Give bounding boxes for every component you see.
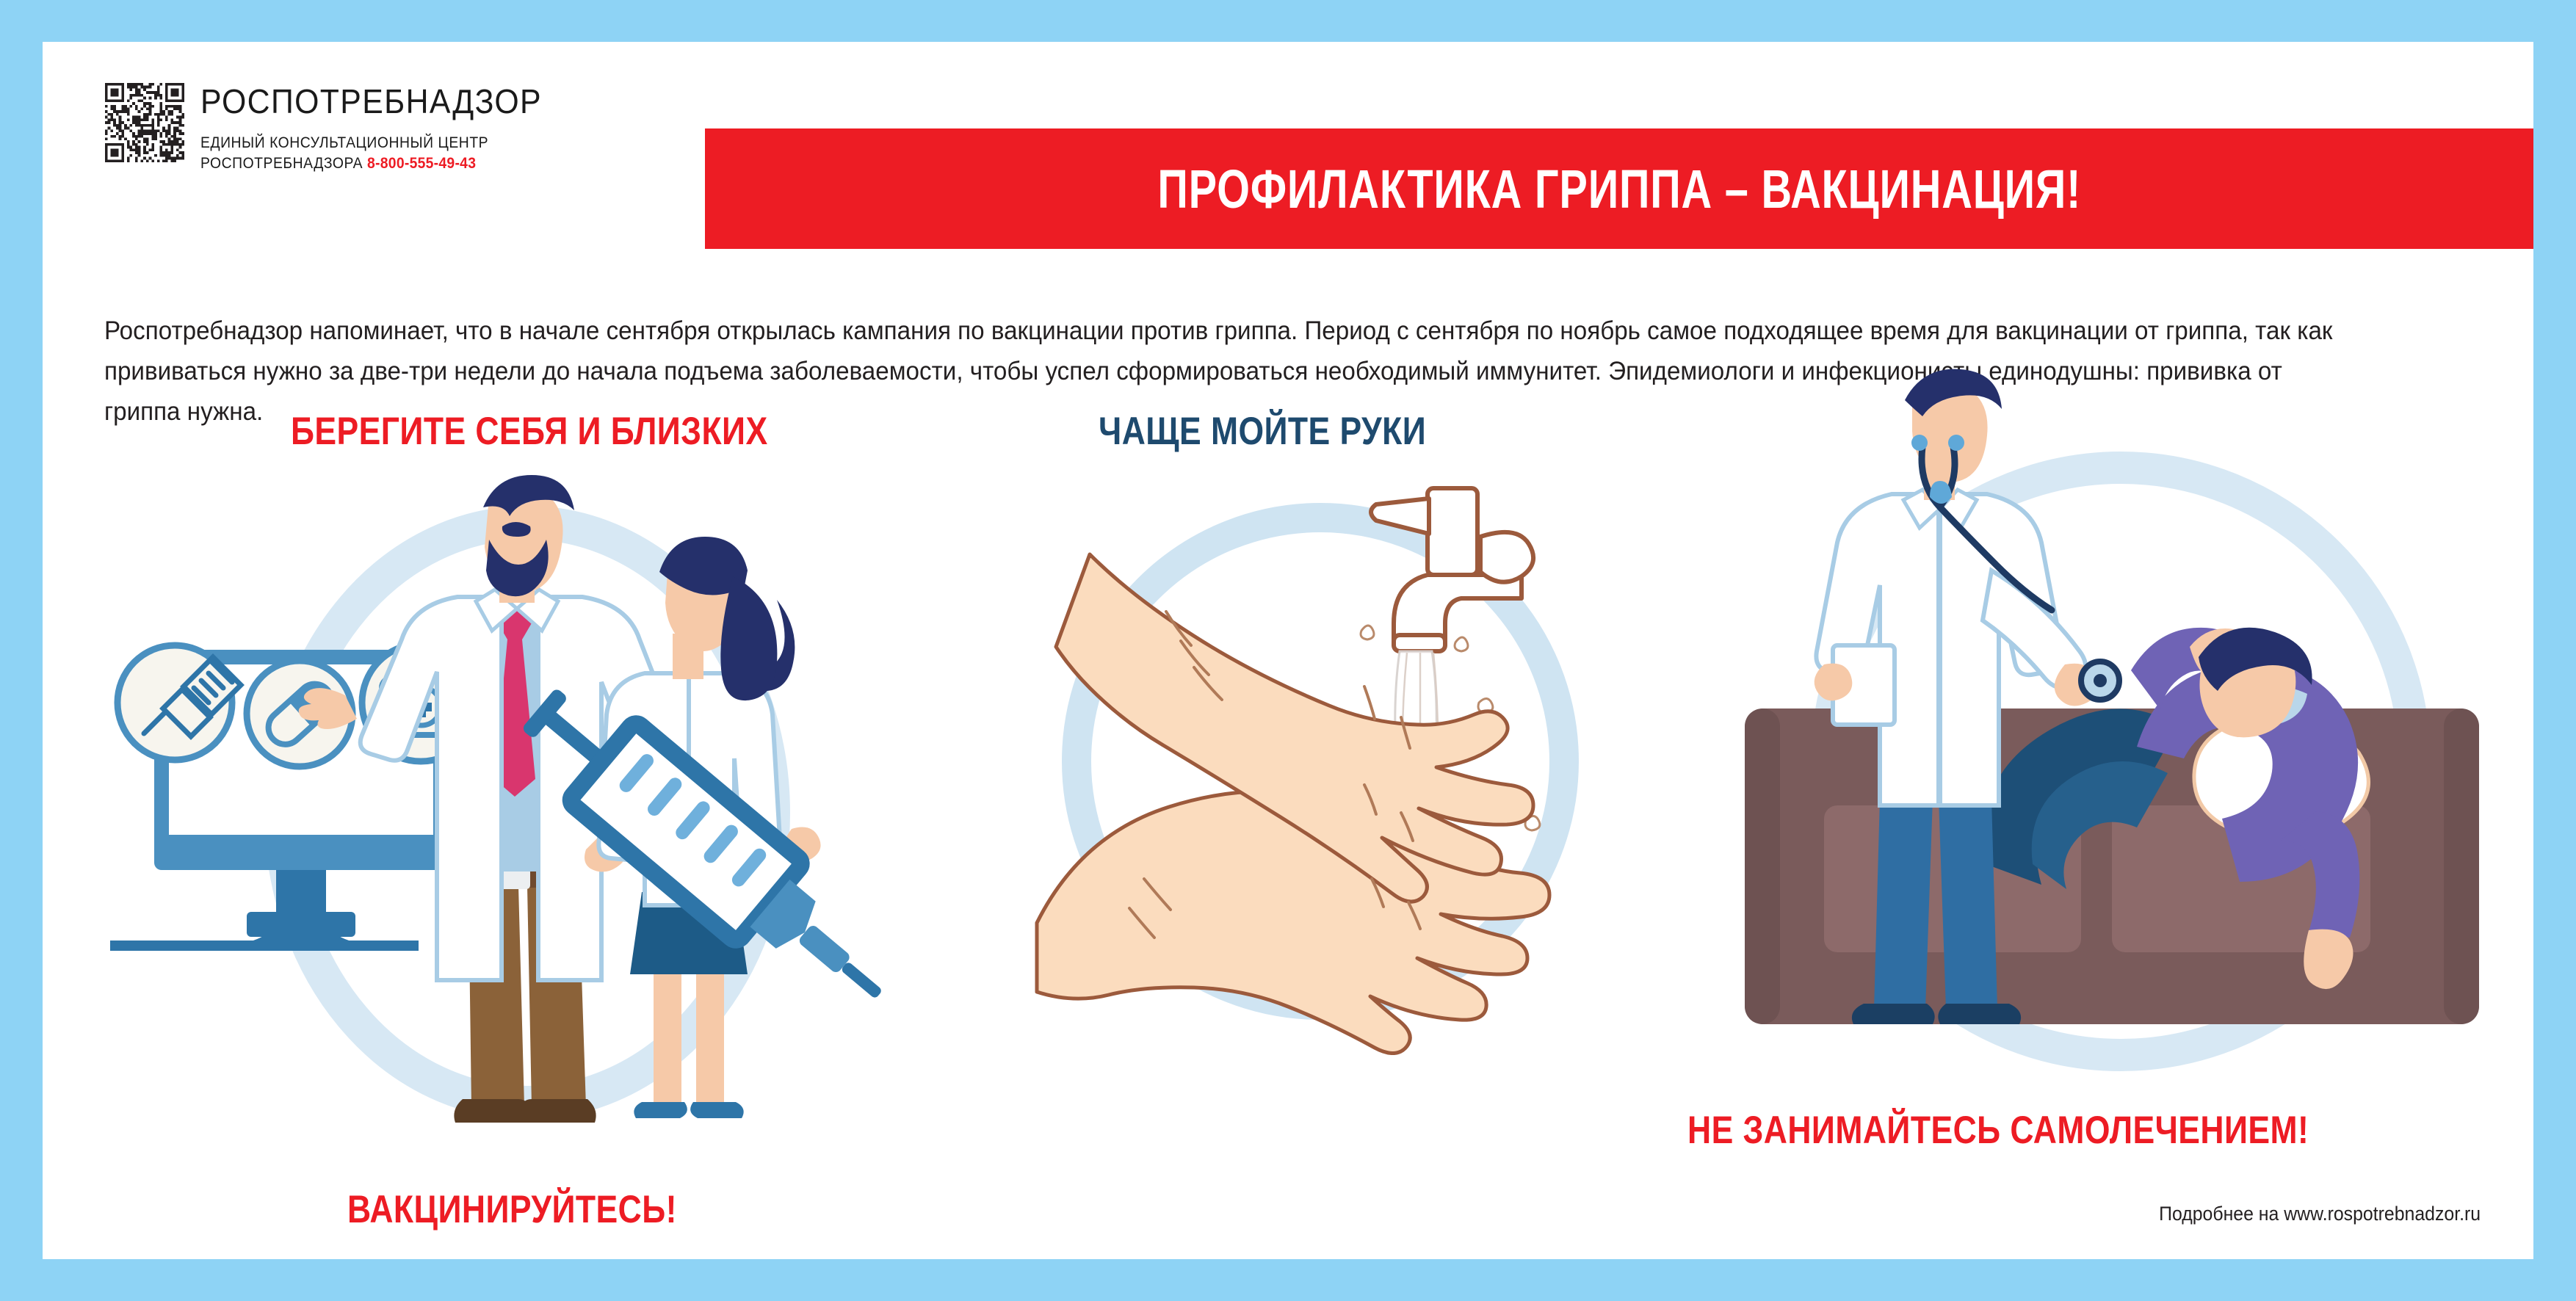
handwashing-illustration: [1019, 468, 1621, 1055]
panel-self-medication-caption: НЕ ЗАНИМАЙТЕСЬ САМОЛЕЧЕНИЕМ!: [1687, 1108, 2309, 1153]
panel-handwashing: ЧАЩЕ МОЙТЕ РУКИ: [1012, 409, 1636, 1231]
footer-more-info[interactable]: Подробнее на www.rospotrebnadzor.ru: [2159, 1203, 2481, 1225]
rospotrebnadzor-logo-block: РОСПОТРЕБНАДЗОР ЕДИНЫЙ КОНСУЛЬТАЦИОННЫЙ …: [105, 83, 568, 173]
logo-text-block: РОСПОТРЕБНАДЗОР ЕДИНЫЙ КОНСУЛЬТАЦИОННЫЙ …: [200, 83, 568, 173]
consultation-center-line1: ЕДИНЫЙ КОНСУЛЬТАЦИОННЫЙ ЦЕНТР: [200, 133, 531, 153]
hotline-number[interactable]: 8-800-555-49-43: [367, 154, 476, 172]
consultation-center-line2-text: РОСПОТРЕБНАДЗОРА: [200, 154, 363, 172]
panel-handwashing-heading: ЧАЩЕ МОЙТЕ РУКИ: [1099, 409, 1426, 454]
panel-vaccination-caption: ВАКЦИНИРУЙТЕСЬ!: [347, 1187, 677, 1232]
qr-code-icon: [105, 83, 184, 162]
poster-header: РОСПОТРЕБНАДЗОР ЕДИНЫЙ КОНСУЛЬТАЦИОННЫЙ …: [43, 42, 2533, 255]
panel-vaccination-heading: БЕРЕГИТЕ СЕБЯ И БЛИЗКИХ: [291, 409, 768, 454]
headline-title: ПРОФИЛАКТИКА ГРИППА – ВАКЦИНАЦИЯ!: [1157, 158, 2081, 220]
panel-self-medication: НЕ ЗАНИМАЙТЕСЬ САМОЛЕЧЕНИЕМ!: [1680, 350, 2532, 1231]
headline-banner: ПРОФИЛАКТИКА ГРИППА – ВАКЦИНАЦИЯ!: [705, 128, 2533, 249]
consultation-center-line2: РОСПОТРЕБНАДЗОРА 8-800-555-49-43: [200, 153, 531, 174]
doctor-nurse-syringe-illustration: [87, 453, 953, 1187]
poster-sheet: РОСПОТРЕБНАДЗОР ЕДИНЫЙ КОНСУЛЬТАЦИОННЫЙ …: [43, 42, 2533, 1259]
brand-name: РОСПОТРЕБНАДЗОР: [200, 84, 542, 118]
panel-vaccination: БЕРЕГИТЕ СЕБЯ И БЛИЗКИХ: [87, 409, 953, 1231]
poster-root: РОСПОТРЕБНАДЗОР ЕДИНЫЙ КОНСУЛЬТАЦИОННЫЙ …: [0, 0, 2576, 1301]
doctor-patient-sofa-illustration: [1680, 350, 2532, 1092]
